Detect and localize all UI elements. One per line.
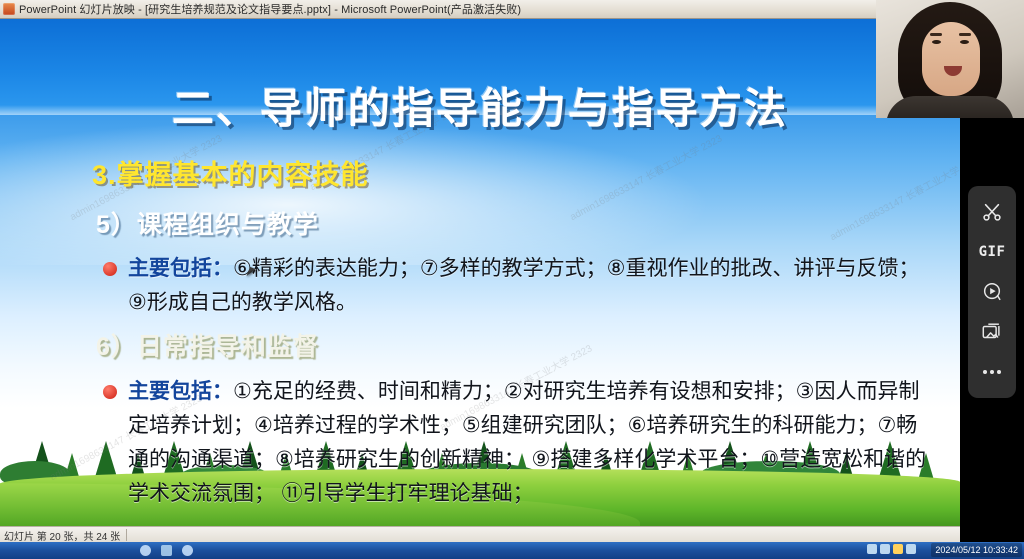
scissors-icon[interactable] [977,197,1007,227]
window-title-bar: PowerPoint 幻灯片放映 - [研究生培养规范及论文指导要点.pptx]… [0,0,1024,19]
status-bar-divider [126,529,127,541]
tray-icon-4[interactable] [906,544,916,554]
gif-icon[interactable]: GIF [977,237,1007,267]
more-icon[interactable] [977,357,1007,387]
tray-icon-2[interactable] [880,544,890,554]
gif-label: GIF [979,244,1006,260]
subsection-2-paragraph: 主要包括：①充足的经费、时间和精力；②对研究生培养有设想和安排；③因人而异制定培… [128,374,928,510]
tray-icon-3[interactable] [893,544,903,554]
screen: PowerPoint 幻灯片放映 - [研究生培养规范及论文指导要点.pptx]… [0,0,1024,559]
subsection-1-heading: 5）课程组织与教学 [96,205,319,241]
subsection-2-heading: 6）日常指导和监督 [96,327,319,363]
tray-icon-group[interactable] [867,544,916,554]
subsection-1-paragraph: 主要包括：⑥精彩的表达能力；⑦多样的教学方式；⑧重视作业的批改、讲评与反馈；⑨形… [128,251,928,319]
webcam-shoulders [886,96,1014,118]
powerpoint-icon [3,3,15,15]
subsection-1-body: ⑥精彩的表达能力；⑦多样的教学方式；⑧重视作业的批改、讲评与反馈；⑨形成自己的教… [128,256,919,314]
bullet-point-icon [103,385,117,399]
webcam-eyebrow-right [959,33,971,36]
record-icon[interactable] [977,277,1007,307]
tray-icon-sound[interactable] [161,545,172,556]
slide-title: 二、导师的指导能力与指导方法 [0,75,960,136]
taskbar-tray-items[interactable] [0,545,193,556]
slide-counter: 幻灯片 第 20 张，共 24 张 [0,528,120,543]
webcam-eyebrow-left [930,33,942,36]
powerpoint-window: PowerPoint 幻灯片放映 - [研究生培养规范及论文指导要点.pptx]… [0,0,1024,559]
slide-canvas[interactable]: admin1698633147 长春工业大学 2323 admin1698633… [0,19,960,531]
webcam-eye-left [932,40,941,44]
status-bar: 幻灯片 第 20 张，共 24 张 [0,526,960,543]
subsection-2-body: ①充足的经费、时间和精力；②对研究生培养有设想和安排；③因人而异制定培养计划；④… [128,379,926,505]
bullet-point-icon [103,262,117,276]
slide-section-heading: 3.掌握基本的内容技能 [92,153,369,192]
subsection-2-lead: 主要包括： [128,379,233,403]
webcam-eye-right [960,40,969,44]
tray-icon-app[interactable] [182,545,193,556]
tray-icon-network[interactable] [140,545,151,556]
window-title-text: PowerPoint 幻灯片放映 - [研究生培养规范及论文指导要点.pptx]… [19,1,521,17]
floating-toolbar[interactable]: GIF [968,186,1016,398]
screenshot-icon[interactable] [977,317,1007,347]
taskbar[interactable]: 2024/05/12 10:33:42 [0,542,1024,559]
tray-icon-1[interactable] [867,544,877,554]
taskbar-clock[interactable]: 2024/05/12 10:33:42 [931,543,1022,557]
presenter-webcam[interactable] [876,0,1024,118]
subsection-1-lead: 主要包括： [128,256,233,280]
